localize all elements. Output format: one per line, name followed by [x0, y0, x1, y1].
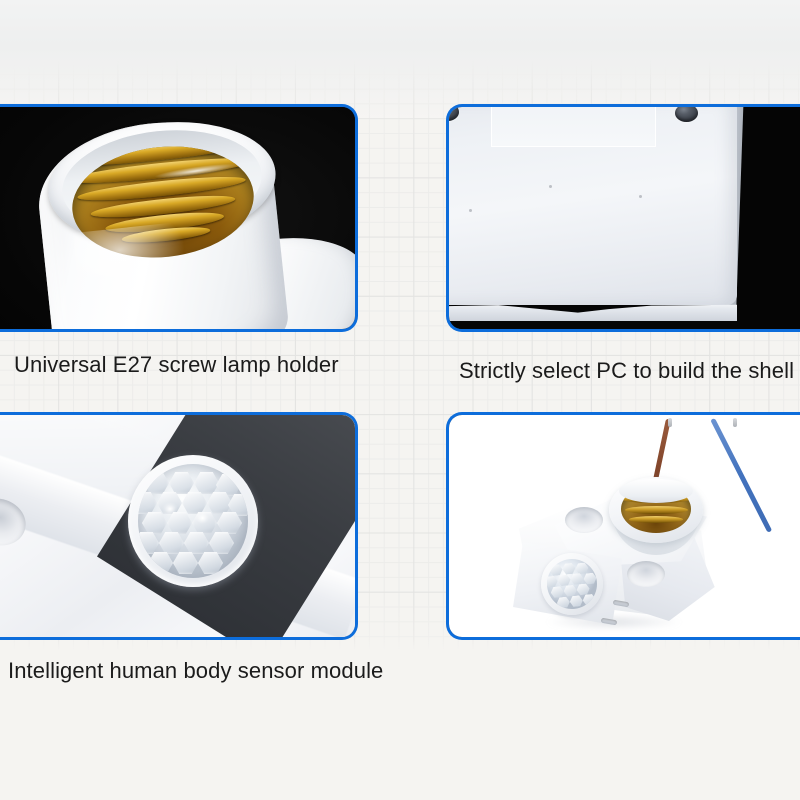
surface-speck: [639, 195, 642, 198]
photo-complete-product: [449, 415, 800, 637]
mounting-hole-upper-icon: [565, 507, 603, 533]
pir-fresnel-dome: [138, 464, 248, 578]
body-gloss-highlight: [73, 217, 234, 329]
panel-sensor-module[interactable]: [0, 412, 358, 640]
panel-full-product[interactable]: [446, 412, 800, 640]
socket-top-lip: [619, 479, 693, 503]
surface-speck: [469, 209, 472, 212]
wire-brown-stripped-tip: [668, 418, 672, 427]
panel-pc-shell[interactable]: [446, 104, 800, 332]
mounting-hole-lower-icon: [627, 561, 665, 587]
caption-lamp-holder: Universal E27 screw lamp holder: [14, 352, 339, 377]
screw-recess-left-icon: [449, 107, 459, 121]
photo-pc-plastic-shell: [449, 107, 800, 329]
product-feature-grid: Universal E27 screw lamp holder Strictly…: [0, 0, 800, 800]
surface-speck: [549, 185, 552, 188]
caption-sensor-module: Intelligent human body sensor module: [8, 658, 383, 683]
dome-specular-highlight: [162, 502, 178, 516]
shell-white-face: [449, 107, 737, 305]
photo-e27-lamp-socket: [0, 107, 355, 329]
panel-lamp-holder[interactable]: [0, 104, 358, 332]
dome-specular-highlight: [196, 512, 209, 524]
photo-pir-sensor-dome: [0, 415, 355, 637]
caption-pc-shell: Strictly select PC to build the shell: [459, 358, 794, 383]
screw-recess-right-icon: [675, 107, 698, 122]
wire-blue-stripped-tip: [733, 418, 737, 427]
shell-recessed-panel: [491, 107, 656, 147]
